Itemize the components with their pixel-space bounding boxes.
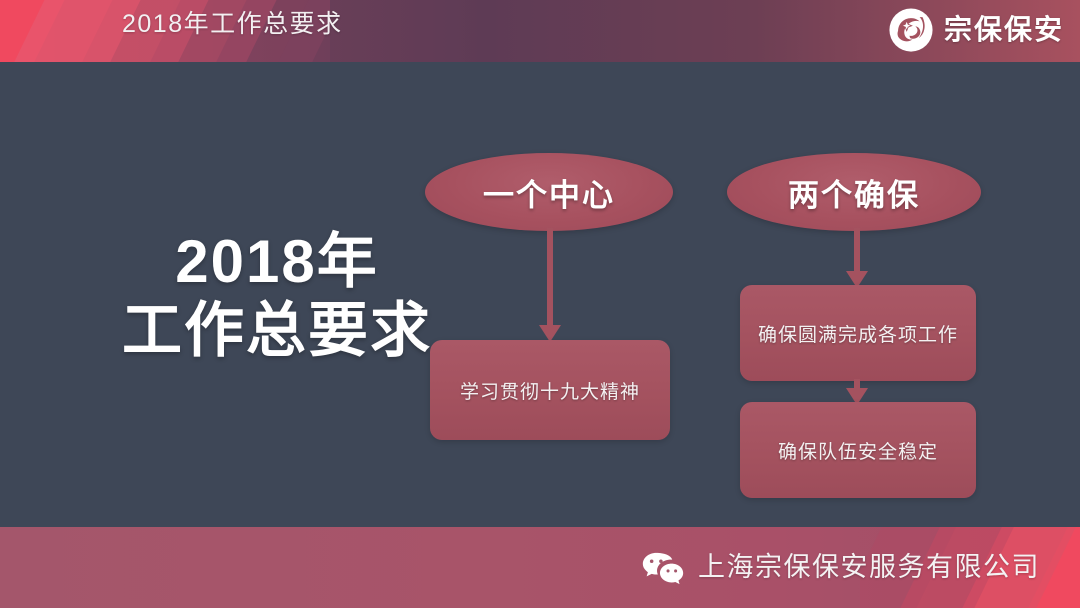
diagram-node-complete-all-tasks[interactable]: 确保圆满完成各项工作 bbox=[740, 285, 976, 381]
presentation-slide: 2018年工作总要求 宗保保安 2018年 工作总要求 一个中心 学习贯彻十九大… bbox=[0, 0, 1080, 608]
slide-body: 2018年 工作总要求 一个中心 学习贯彻十九大精神 两个确保 确保圆满完成各项… bbox=[0, 62, 1080, 527]
brand-name: 宗保保安 bbox=[944, 16, 1064, 44]
diagram-node-team-safety-stability[interactable]: 确保队伍安全稳定 bbox=[740, 402, 976, 498]
zongbao-eagle-logo-icon bbox=[888, 7, 934, 53]
brand-lockup: 宗保保安 bbox=[888, 7, 1064, 53]
diagram-node-two-ensures[interactable]: 两个确保 bbox=[727, 153, 981, 231]
footer-company-name: 上海宗保保安服务有限公司 bbox=[698, 554, 1040, 581]
wechat-icon bbox=[642, 551, 684, 585]
slide-header: 2018年工作总要求 宗保保安 bbox=[0, 0, 1080, 62]
diagram-node-one-center[interactable]: 一个中心 bbox=[425, 153, 673, 231]
header-title: 2018年工作总要求 bbox=[122, 12, 343, 37]
slide-footer: 上海宗保保安服务有限公司 bbox=[0, 527, 1080, 608]
arrow-two-ensures-to-tasks bbox=[845, 228, 869, 288]
flow-diagram: 一个中心 学习贯彻十九大精神 两个确保 确保圆满完成各项工作 确保队伍安全稳定 bbox=[0, 62, 1080, 527]
footer-content: 上海宗保保安服务有限公司 bbox=[642, 527, 1040, 608]
diagram-node-study-19th-congress[interactable]: 学习贯彻十九大精神 bbox=[430, 340, 670, 440]
arrow-one-center-to-study bbox=[538, 228, 562, 342]
